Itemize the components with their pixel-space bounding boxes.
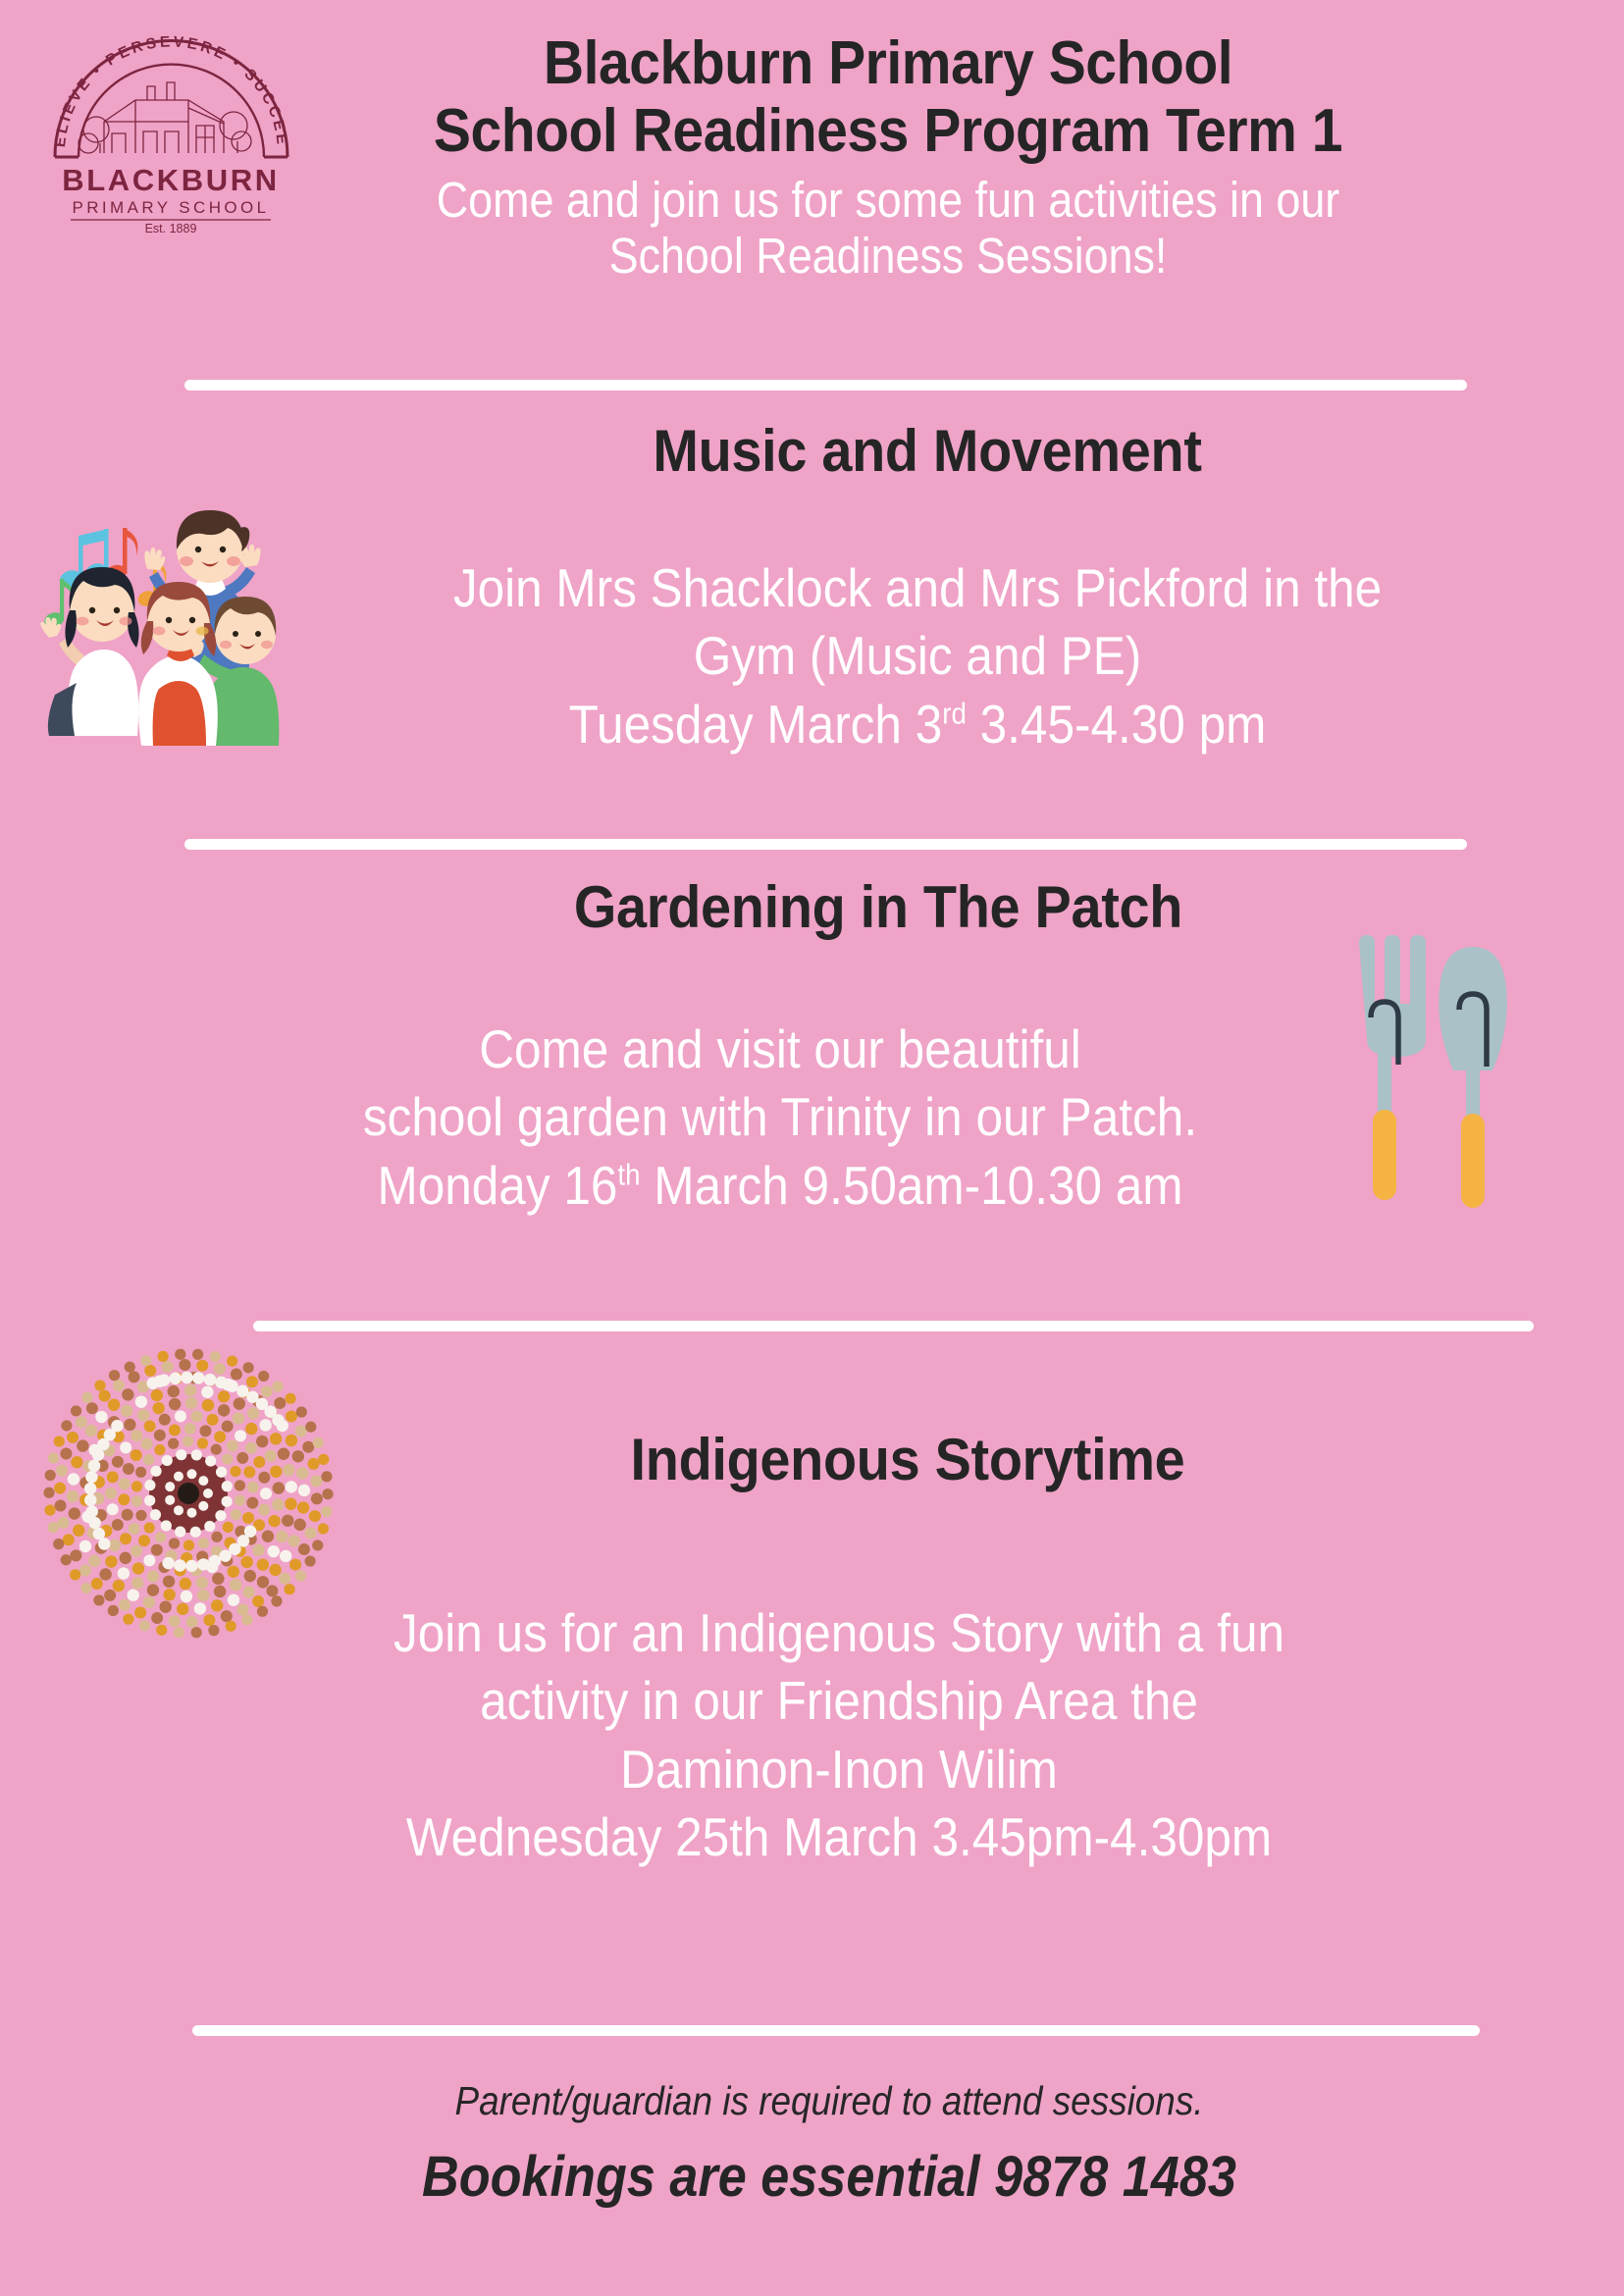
- indigenous-date-line: Wednesday 25th March 3.45pm-4.30pm: [261, 1803, 1418, 1871]
- section-heading-gardening-in-the-patch: Gardening in The Patch: [289, 873, 1467, 941]
- section-heading-indigenous-storytime: Indigenous Storytime: [319, 1426, 1496, 1493]
- section-body-indigenous-storytime: Join us for an Indigenous Story with a f…: [261, 1599, 1418, 1871]
- parent-attendance-note: Parent/guardian is required to attend se…: [242, 2078, 1417, 2124]
- divider-3: [253, 1321, 1534, 1331]
- garden-date-ordinal: th: [617, 1157, 640, 1191]
- indigenous-date-prefix: Wednesday 25th March 3.45pm-4.30pm: [406, 1806, 1272, 1867]
- garden-fork-and-trowel-illustration: [1330, 927, 1570, 1222]
- aboriginal-dot-painting-circle-illustration: [41, 1346, 336, 1641]
- divider-2: [184, 839, 1467, 850]
- page-subtitle-line-1: Come and join us for some fun activities…: [314, 170, 1462, 230]
- garden-line-1: Come and visit our beautiful: [220, 1016, 1341, 1083]
- garden-date-line: Monday 16th March 9.50am-10.30 am: [220, 1152, 1341, 1220]
- page-title-line-1: Blackburn Primary School: [288, 29, 1489, 97]
- section-body-gardening-in-the-patch: Come and visit our beautiful school gard…: [220, 1016, 1341, 1220]
- garden-date-prefix: Monday 16: [377, 1155, 617, 1216]
- garden-date-suffix: March 9.50am-10.30 am: [641, 1155, 1183, 1216]
- divider-4: [192, 2025, 1480, 2036]
- section-body-music-and-movement: Join Mrs Shacklock and Mrs Pickford in t…: [357, 554, 1479, 758]
- section-heading-music-and-movement: Music and Movement: [339, 417, 1516, 485]
- school-readiness-flyer: BELIEVE • PERSEVERE • SUCCEED BLACKBURN …: [0, 0, 1624, 2296]
- flyer-footer: Parent/guardian is required to attend se…: [177, 2078, 1482, 2210]
- music-date-line: Tuesday March 3rd 3.45-4.30 pm: [357, 691, 1479, 758]
- page-subtitle-line-2: School Readiness Sessions!: [314, 226, 1462, 286]
- flyer-header: Blackburn Primary School School Readines…: [236, 29, 1541, 286]
- garden-line-2: school garden with Trinity in our Patch.: [220, 1083, 1341, 1151]
- music-line-2: Gym (Music and PE): [357, 622, 1479, 690]
- bookings-phone-line: Bookings are essential 9878 1483: [242, 2144, 1417, 2210]
- indigenous-line-1: Join us for an Indigenous Story with a f…: [261, 1599, 1418, 1667]
- indigenous-line-2: activity in our Friendship Area the: [261, 1667, 1418, 1735]
- svg-text:Est. 1889: Est. 1889: [145, 222, 197, 234]
- divider-1: [184, 380, 1467, 391]
- music-date-ordinal: rd: [942, 696, 967, 730]
- page-title-line-2: School Readiness Program Term 1: [288, 97, 1489, 165]
- music-date-suffix: 3.45-4.30 pm: [967, 694, 1266, 755]
- music-line-1: Join Mrs Shacklock and Mrs Pickford in t…: [357, 554, 1479, 622]
- music-date-prefix: Tuesday March 3: [569, 694, 943, 755]
- dancing-children-with-music-notes-illustration: [22, 471, 306, 746]
- indigenous-line-3: Daminon-Inon Wilim: [261, 1736, 1418, 1803]
